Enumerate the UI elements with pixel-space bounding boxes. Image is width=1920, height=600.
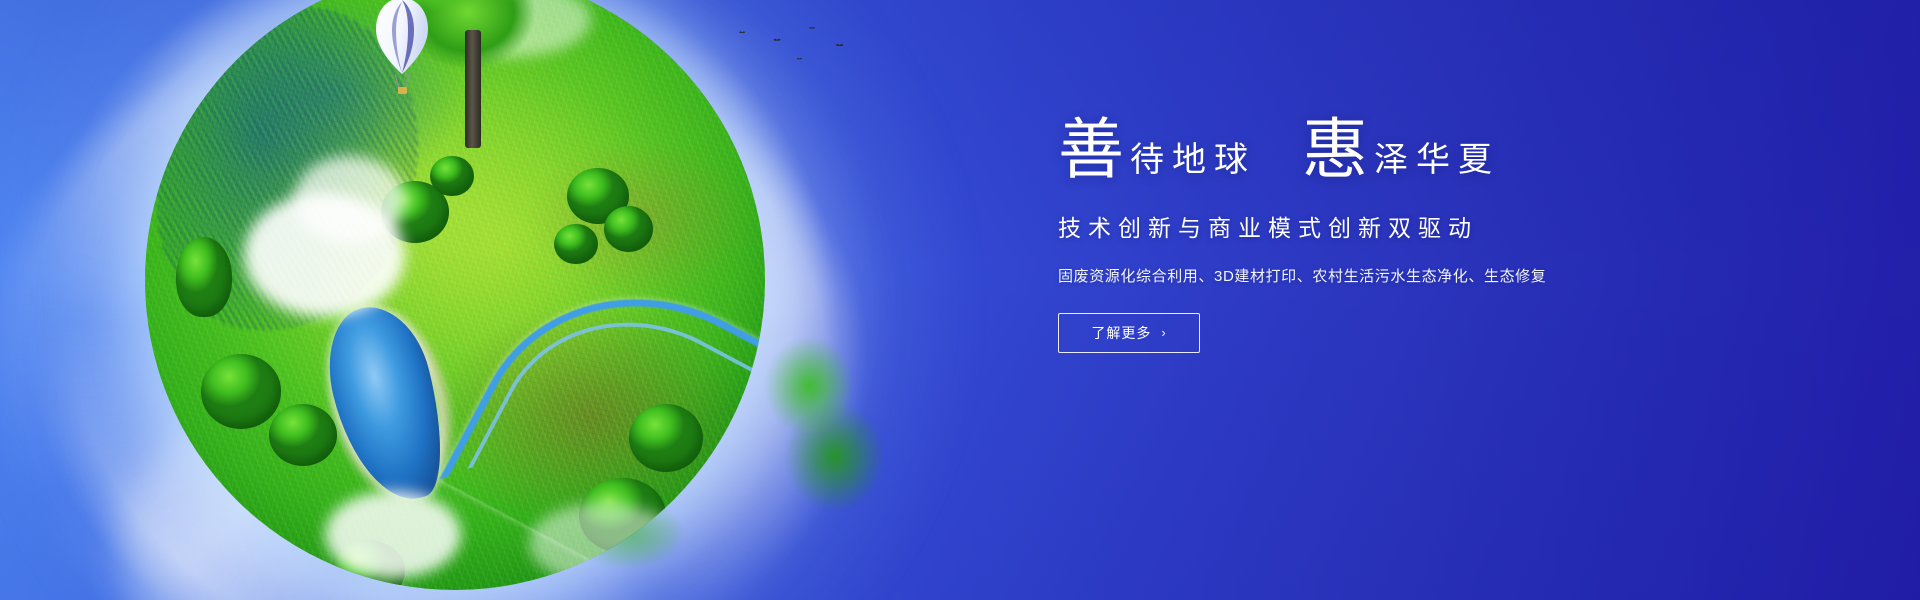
headline-rest-2: 泽华夏	[1368, 143, 1500, 181]
tree-clump	[430, 156, 473, 196]
hero-banner: 善 待地球 惠 泽华夏 技术创新与商业模式创新双驱动 固废资源化综合利用、3D建…	[0, 0, 1920, 600]
forest-tree-right-icon	[745, 320, 905, 540]
surface-cloud	[294, 156, 406, 243]
learn-more-button[interactable]: 了解更多 ›	[1058, 313, 1200, 353]
headline-rest-1: 待地球	[1124, 143, 1256, 181]
tree-clump	[554, 224, 597, 264]
tree-clump	[629, 404, 703, 472]
hot-air-balloon-icon	[373, 0, 431, 100]
surface-cloud	[325, 491, 461, 578]
headline-lead-1: 善	[1058, 120, 1124, 181]
page-title: 善 待地球 惠 泽华夏	[1058, 120, 1818, 181]
banner-subtitle: 技术创新与商业模式创新双驱动	[1058, 209, 1818, 243]
learn-more-label: 了解更多	[1091, 323, 1151, 343]
banner-content: 善 待地球 惠 泽华夏 技术创新与商业模式创新双驱动 固废资源化综合利用、3D建…	[1058, 120, 1818, 353]
tree-clump	[269, 404, 337, 466]
banner-tagline: 固废资源化综合利用、3D建材打印、农村生活污水生态净化、生态修复	[1058, 265, 1818, 286]
surface-cloud	[529, 503, 678, 584]
tree-clump	[604, 206, 654, 253]
tree-clump	[176, 237, 232, 318]
green-planet-illustration	[145, 0, 765, 590]
chevron-right-icon: ›	[1161, 325, 1166, 340]
bird-flock-icon	[737, 22, 867, 62]
large-tree-trunk	[465, 30, 481, 148]
headline-lead-2: 惠	[1302, 120, 1368, 181]
tree-clump	[201, 354, 282, 428]
